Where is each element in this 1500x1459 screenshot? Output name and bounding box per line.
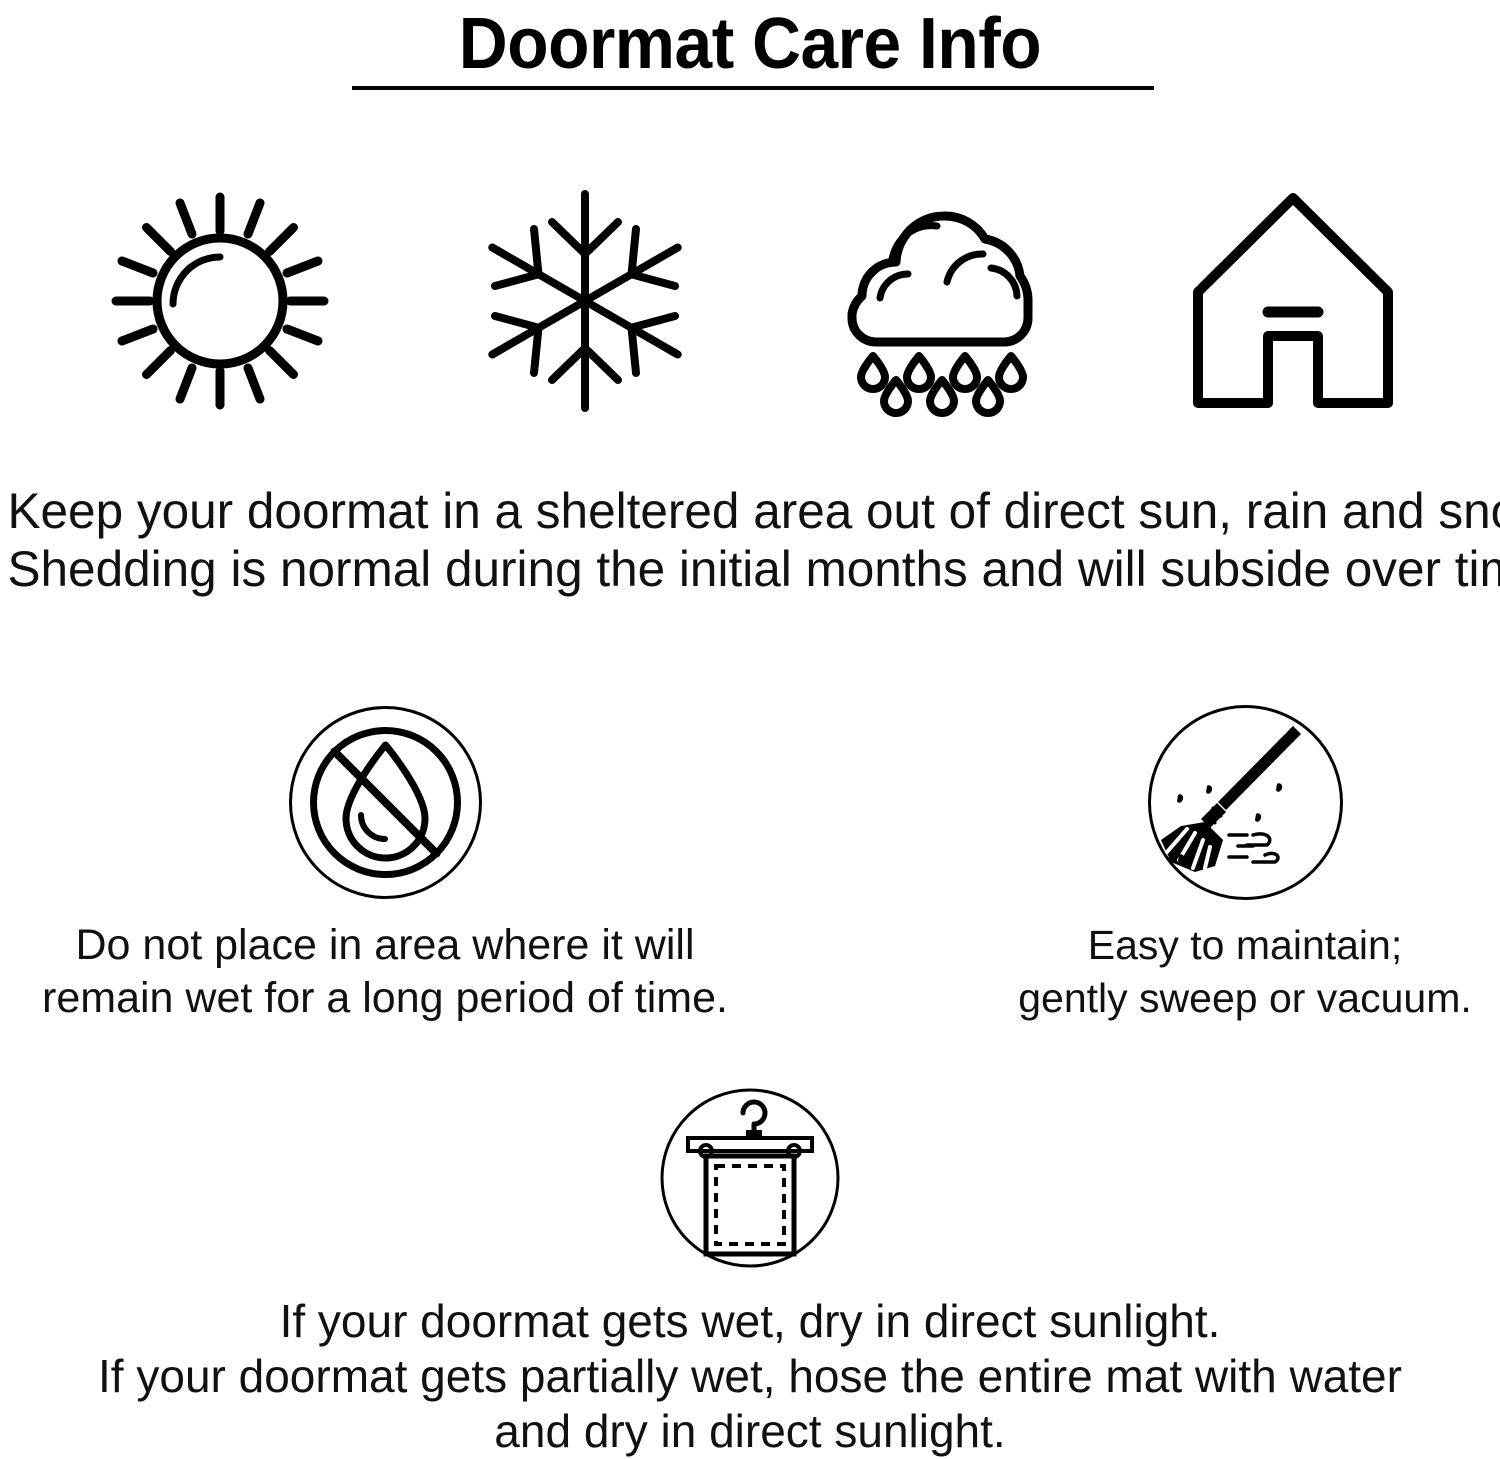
sun-icon	[95, 176, 345, 426]
intro-paragraph: Keep your doormat in a sheltered area ou…	[0, 482, 1500, 598]
house-icon	[1168, 176, 1418, 426]
drying-tip: If your doormat gets wet, dry in direct …	[0, 1078, 1500, 1459]
weather-icon-row	[0, 176, 1500, 426]
easy-maintain-caption: Easy to maintain; gently sweep or vacuum…	[865, 919, 1500, 1025]
snowflake-icon	[460, 176, 710, 426]
drying-caption-line-3: and dry in direct sunlight.	[0, 1404, 1500, 1459]
no-water-caption-line-1: Do not place in area where it will	[5, 919, 765, 972]
broom-sweep-icon	[1143, 700, 1348, 905]
drying-caption-line-1: If your doormat gets wet, dry in direct …	[0, 1294, 1500, 1349]
title-underline-divider	[352, 86, 1154, 90]
page-title: Doormat Care Info	[45, 0, 1455, 84]
page-title-block: Doormat Care Info	[0, 0, 1500, 84]
easy-maintain-tip: Easy to maintain; gently sweep or vacuum…	[865, 700, 1500, 1025]
no-water-caption-line-2: remain wet for a long period of time.	[5, 972, 765, 1025]
easy-maintain-caption-line-2: gently sweep or vacuum.	[865, 972, 1500, 1025]
intro-line-2: Shedding is normal during the initial mo…	[8, 540, 1493, 598]
no-water-tip: Do not place in area where it will remai…	[5, 700, 765, 1025]
no-water-caption: Do not place in area where it will remai…	[5, 919, 765, 1025]
care-tips-row: Do not place in area where it will remai…	[0, 700, 1500, 1020]
no-water-icon	[283, 700, 488, 905]
rain-cloud-icon	[815, 176, 1065, 426]
intro-line-1: Keep your doormat in a sheltered area ou…	[8, 482, 1493, 540]
easy-maintain-caption-line-1: Easy to maintain;	[865, 919, 1500, 972]
care-info-page: Doormat Care Info	[0, 0, 1500, 1446]
drying-caption-line-2: If your doormat gets partially wet, hose…	[0, 1349, 1500, 1404]
hang-to-dry-icon	[650, 1078, 850, 1278]
drying-caption: If your doormat gets wet, dry in direct …	[0, 1294, 1500, 1459]
